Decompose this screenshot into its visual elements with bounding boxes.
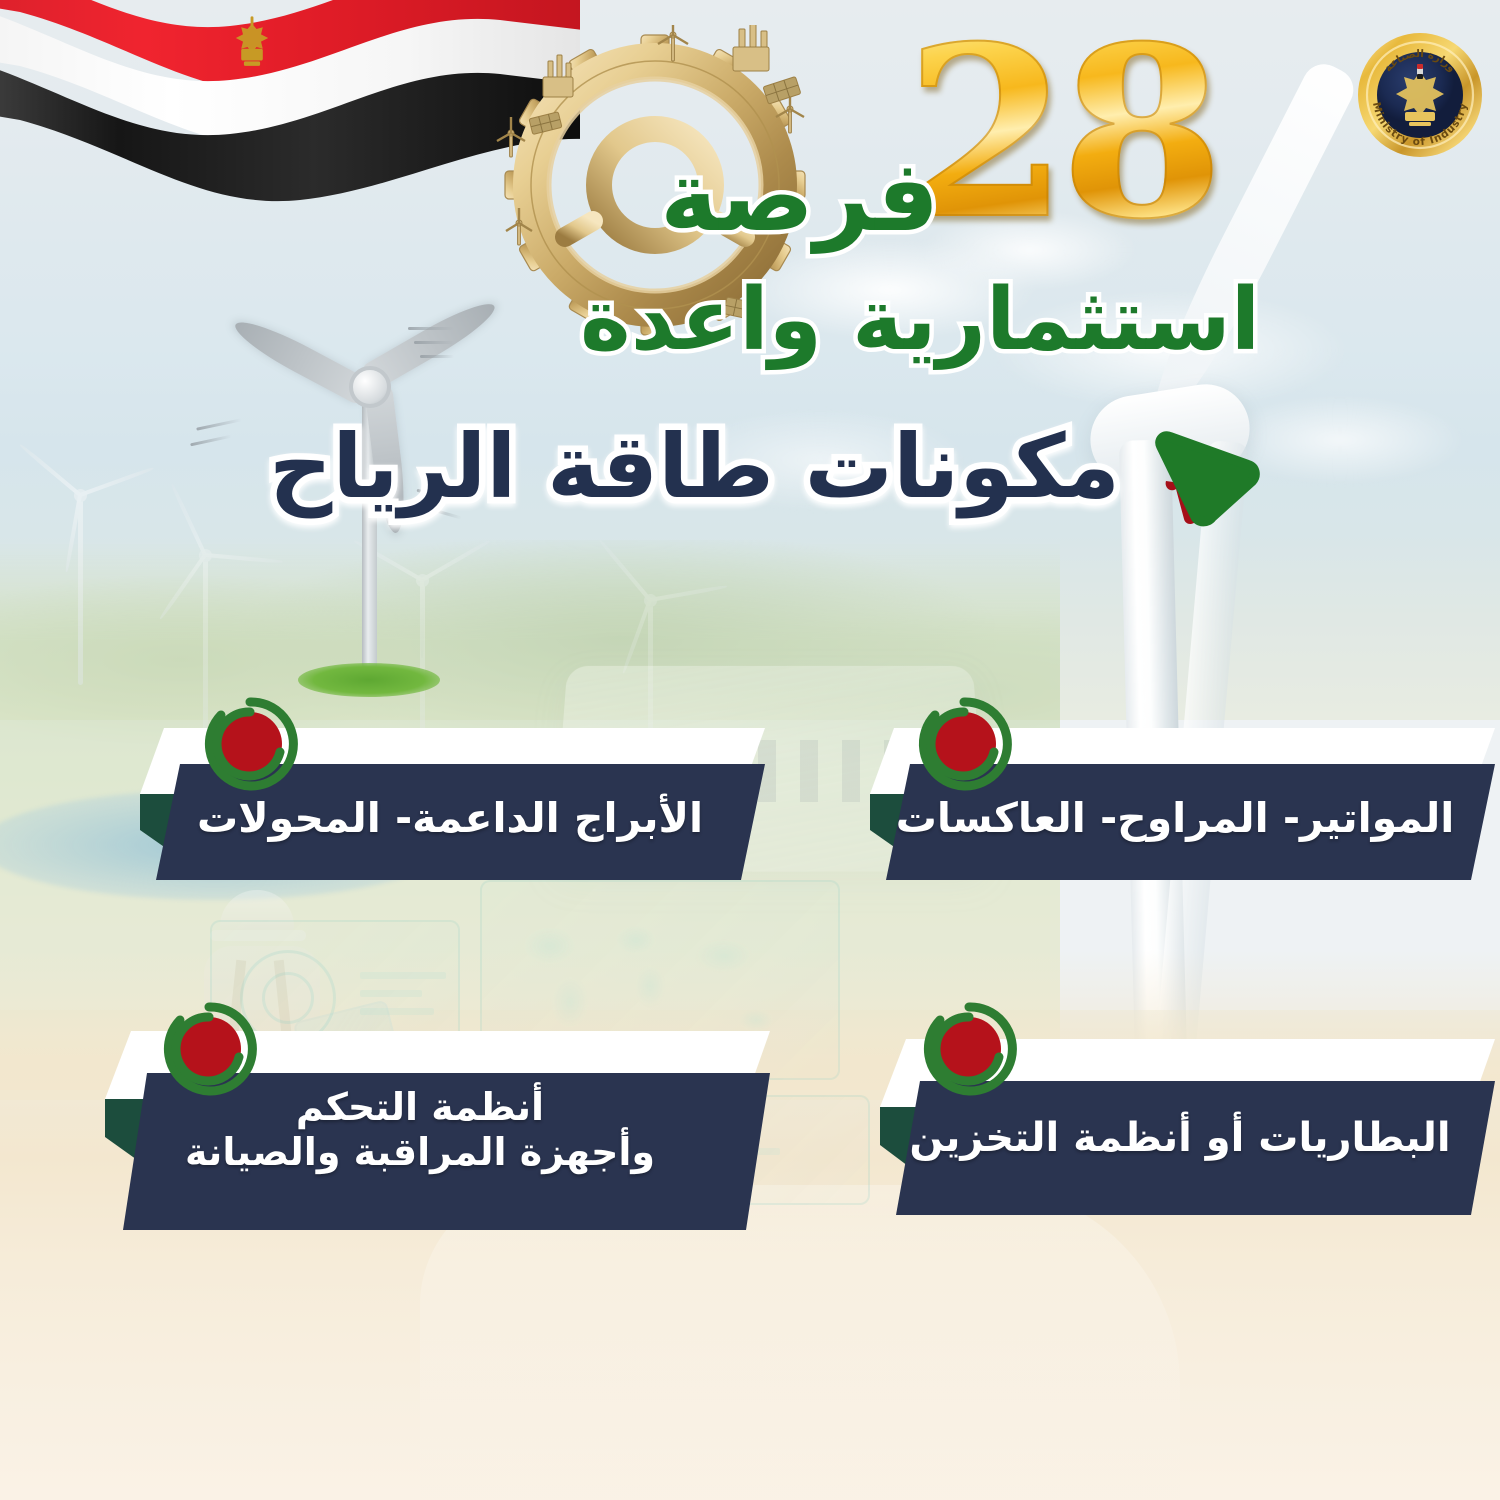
red-dot-ring-icon [155,995,263,1103]
card-label: المواتير- المراوح- العاكسات [895,794,1455,842]
page-title: مكونات طاقة الرياح [380,415,1120,518]
kicker-line-2: استثمارية واعدة [580,270,1260,370]
red-dot-ring-icon [196,690,304,798]
card-label: الأبراج الداعمة- المحولات [170,794,730,842]
nacelle-silhouette-foreground [420,1185,1180,1500]
egypt-flag [0,0,580,236]
play-arrow-marker [1140,415,1270,545]
opportunity-count: 28 [905,25,1216,241]
kicker-line-1: فرصة [660,140,939,254]
red-dot-ring-icon [910,690,1018,798]
red-dot-ring-icon [915,995,1023,1103]
far-wind-turbine-1 [40,455,120,695]
ministry-of-industry-logo: وزارة الصناعة Ministry of Industry [1355,30,1485,160]
infographic-canvas: 28 فرصة استثمارية واعدة مكونات طاقة الري… [0,0,1500,1500]
card-label: البطاريات أو أنظمة التخزين [900,1115,1460,1162]
